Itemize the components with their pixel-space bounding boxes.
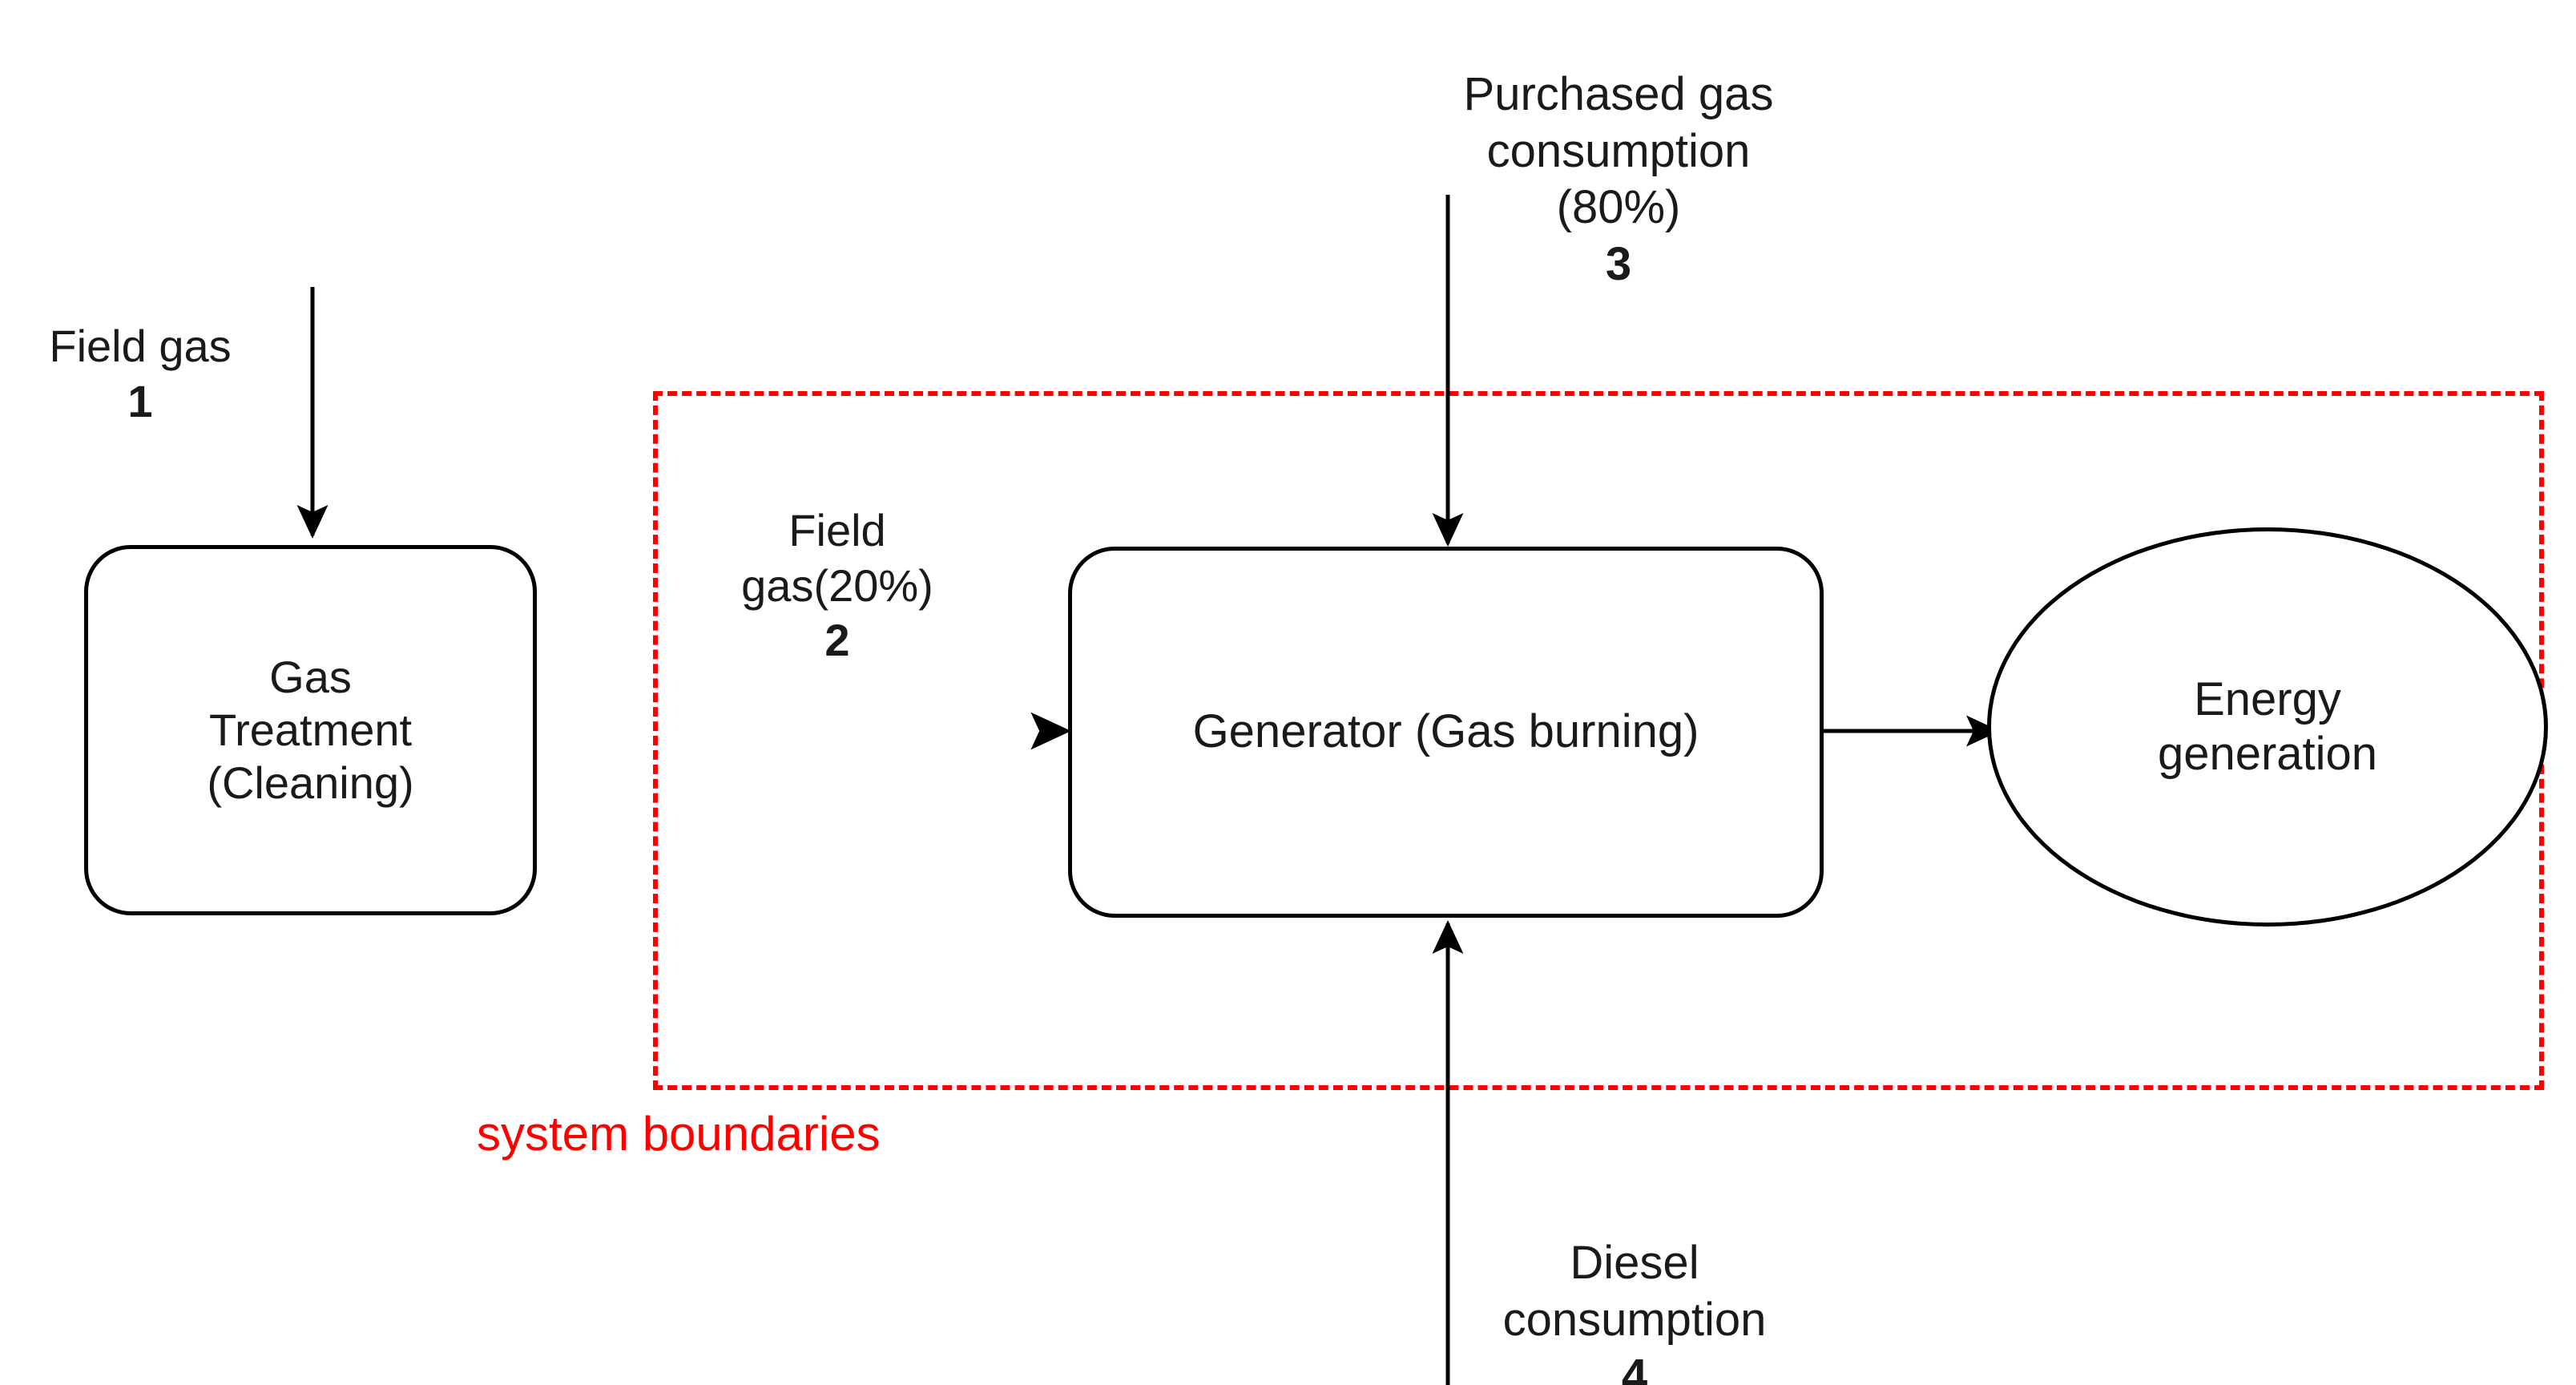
label-diesel-consumption-number: 4 <box>1450 1348 1819 1385</box>
node-generator-label: Generator (Gas burning) <box>1193 705 1699 759</box>
label-purchased-gas-consumption: Purchased gas consumption (80%) 3 <box>1434 10 1803 350</box>
label-field-gas-input: Field gas 1 <box>8 264 272 483</box>
label-field-gas-input-number: 1 <box>8 374 272 429</box>
label-field-gas-20-percent-number: 2 <box>705 613 970 668</box>
node-gas-treatment-label: Gas Treatment (Cleaning) <box>207 651 413 810</box>
label-diesel-consumption: Diesel consumption 4 <box>1450 1178 1819 1385</box>
label-field-gas-20-percent: Field gas(20%) 2 <box>705 449 970 723</box>
node-energy-generation-label: Energy generation <box>2158 672 2377 782</box>
label-field-gas-input-text: Field gas <box>49 321 231 371</box>
node-gas-treatment[interactable]: Gas Treatment (Cleaning) <box>84 545 537 915</box>
label-purchased-gas-consumption-number: 3 <box>1434 236 1803 293</box>
label-diesel-consumption-text: Diesel consumption <box>1503 1237 1767 1346</box>
node-generator[interactable]: Generator (Gas burning) <box>1068 547 1824 918</box>
diagram-canvas: Gas Treatment (Cleaning) Generator (Gas … <box>0 0 2576 1385</box>
node-energy-generation[interactable]: Energy generation <box>1987 527 2548 927</box>
label-purchased-gas-consumption-text: Purchased gas consumption (80%) <box>1464 68 1774 234</box>
system-boundary-label: system boundaries <box>477 1106 881 1161</box>
label-field-gas-20-percent-text: Field gas(20%) <box>741 505 933 610</box>
